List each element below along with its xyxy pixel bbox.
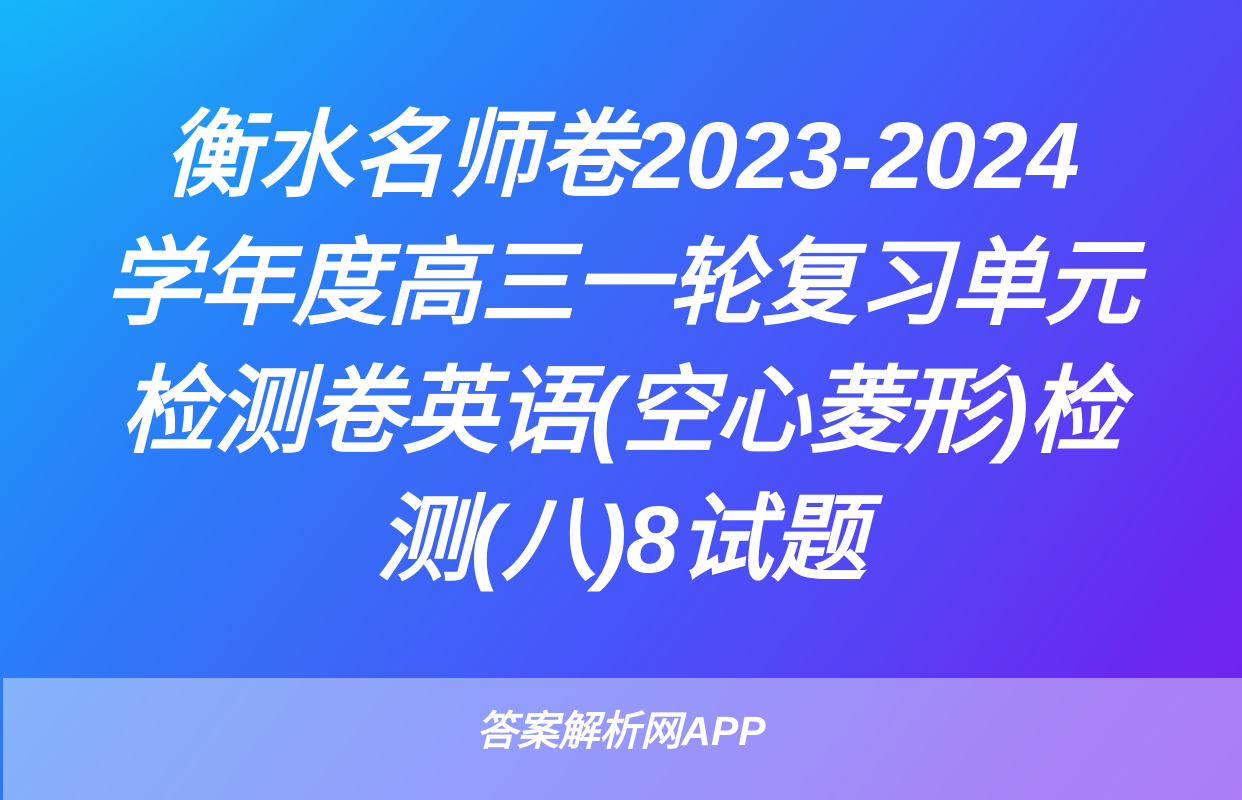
title-line-1: 衡水名师卷2023-2024 (46, 92, 1196, 220)
title-line-3: 检测卷英语(空心菱形)检 (46, 348, 1196, 476)
brand-watermark: 答案解析网APP (0, 705, 1242, 757)
cover-card: 衡水名师卷2023-2024 学年度高三一轮复习单元 检测卷英语(空心菱形)检 … (0, 0, 1242, 800)
title-line-4: 测(八)8试题 (46, 476, 1196, 604)
title-line-2: 学年度高三一轮复习单元 (46, 220, 1196, 348)
page-title: 衡水名师卷2023-2024 学年度高三一轮复习单元 检测卷英语(空心菱形)检 … (0, 92, 1242, 604)
